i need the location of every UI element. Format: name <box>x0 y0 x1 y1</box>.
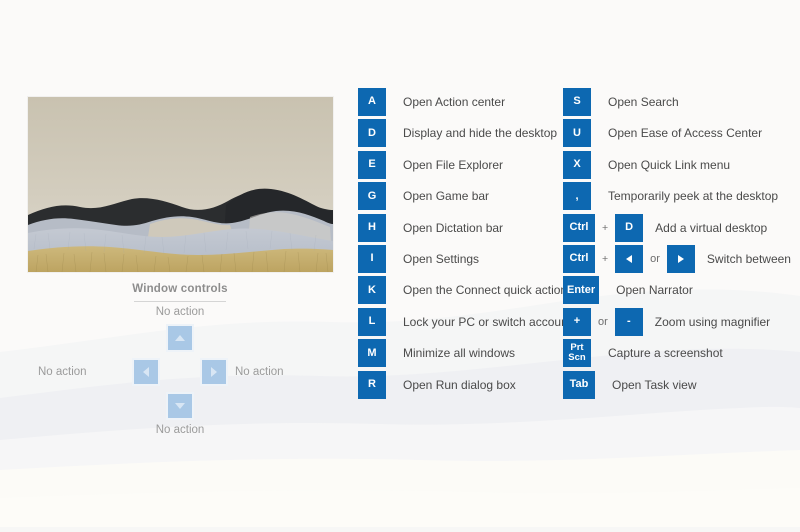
key-tile-l[interactable]: L <box>358 308 386 336</box>
key-tile-r[interactable]: R <box>358 371 386 399</box>
shortcut-row: ROpen Run dialog box <box>358 371 563 399</box>
key-tile-arrow-right[interactable] <box>667 245 695 273</box>
arrow-right-icon <box>678 255 684 263</box>
shortcut-column-1: AOpen Action centerDDisplay and hide the… <box>358 88 563 402</box>
shortcut-row: TabOpen Task view <box>563 371 800 399</box>
key-tile-x[interactable]: X <box>563 151 591 179</box>
shortcut-description: Open Ease of Access Center <box>591 126 762 140</box>
key-tile-[interactable]: - <box>615 308 643 336</box>
key-tile-h[interactable]: H <box>358 214 386 242</box>
key-tile-[interactable]: + <box>563 308 591 336</box>
shortcut-column-2: SOpen SearchUOpen Ease of Access CenterX… <box>563 88 800 402</box>
shortcut-description: Open Action center <box>386 95 505 109</box>
shortcut-row: LLock your PC or switch accounts <box>358 308 563 336</box>
key-tile-a[interactable]: A <box>358 88 386 116</box>
shortcut-row: MMinimize all windows <box>358 339 563 367</box>
shortcut-row: GOpen Game bar <box>358 182 563 210</box>
shortcut-row: IOpen Settings <box>358 245 563 273</box>
shortcut-row: ,Temporarily peek at the desktop <box>563 182 800 210</box>
shortcut-description: Open Dictation bar <box>386 221 503 235</box>
shortcut-description: Minimize all windows <box>386 346 515 360</box>
key-tile-s[interactable]: S <box>563 88 591 116</box>
shortcut-row: SOpen Search <box>563 88 800 116</box>
shortcut-row: DDisplay and hide the desktop <box>358 119 563 147</box>
key-tile-ctrl[interactable]: Ctrl <box>563 214 595 242</box>
shortcut-description: Open File Explorer <box>386 158 503 172</box>
key-or-separator: or <box>643 253 667 265</box>
shortcut-description: Lock your PC or switch accounts <box>386 315 563 329</box>
key-tile-e[interactable]: E <box>358 151 386 179</box>
key-tile-u[interactable]: U <box>563 119 591 147</box>
shortcut-description: Open Run dialog box <box>386 378 516 392</box>
shortcut-description: Open Narrator <box>599 283 693 297</box>
shortcut-row: UOpen Ease of Access Center <box>563 119 800 147</box>
key-tile-[interactable]: , <box>563 182 591 210</box>
key-tile-arrow-left[interactable] <box>615 245 643 273</box>
shortcut-row: KOpen the Connect quick action <box>358 276 563 304</box>
shortcut-row: +or-Zoom using magnifier <box>563 308 800 336</box>
shortcut-row: AOpen Action center <box>358 88 563 116</box>
shortcut-row: PrtScnCapture a screenshot <box>563 339 800 367</box>
key-tile-prt-scn[interactable]: PrtScn <box>563 339 591 367</box>
shortcut-description: Zoom using magnifier <box>643 315 770 329</box>
shortcut-description: Add a virtual desktop <box>643 221 767 235</box>
key-plus-separator: + <box>595 222 615 234</box>
shortcut-description: Temporarily peek at the desktop <box>591 189 778 203</box>
shortcut-description: Open Task view <box>595 378 697 392</box>
shortcut-row: EOpen File Explorer <box>358 151 563 179</box>
shortcut-description: Open the Connect quick action <box>386 283 563 297</box>
shortcut-description: Capture a screenshot <box>591 346 723 360</box>
shortcut-row: EnterOpen Narrator <box>563 276 800 304</box>
key-tile-ctrl[interactable]: Ctrl <box>563 245 595 273</box>
shortcut-row: XOpen Quick Link menu <box>563 151 800 179</box>
shortcuts-area: AOpen Action centerDDisplay and hide the… <box>0 0 800 532</box>
key-tile-i[interactable]: I <box>358 245 386 273</box>
key-tile-tab[interactable]: Tab <box>563 371 595 399</box>
shortcut-description: Open Quick Link menu <box>591 158 730 172</box>
arrow-left-icon <box>626 255 632 263</box>
key-tile-m[interactable]: M <box>358 339 386 367</box>
shortcut-description: Display and hide the desktop <box>386 126 557 140</box>
key-plus-separator: + <box>595 253 615 265</box>
shortcut-row: HOpen Dictation bar <box>358 214 563 242</box>
key-tile-g[interactable]: G <box>358 182 386 210</box>
key-tile-d[interactable]: D <box>615 214 643 242</box>
shortcut-row: Ctrl+DAdd a virtual desktop <box>563 214 800 242</box>
shortcut-description: Switch between <box>695 252 791 266</box>
key-or-separator: or <box>591 316 615 328</box>
key-tile-k[interactable]: K <box>358 276 386 304</box>
shortcut-row: Ctrl+orSwitch between <box>563 245 800 273</box>
shortcut-description: Open Settings <box>386 252 479 266</box>
shortcut-description: Open Game bar <box>386 189 489 203</box>
shortcut-description: Open Search <box>591 95 679 109</box>
key-tile-line: Scn <box>568 353 585 363</box>
key-tile-d[interactable]: D <box>358 119 386 147</box>
key-tile-enter[interactable]: Enter <box>563 276 599 304</box>
